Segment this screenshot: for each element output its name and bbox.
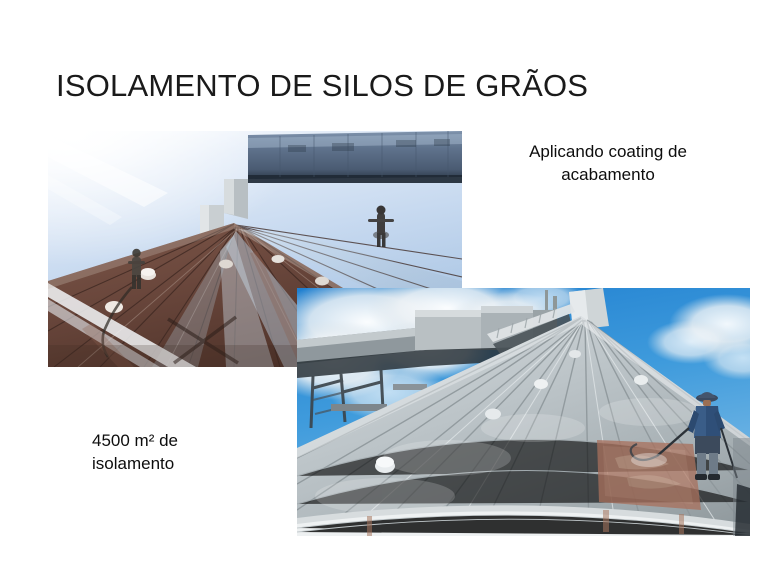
caption-coating-line-2: acabamento bbox=[497, 164, 719, 187]
caption-area-isolamento: 4500 m² de isolamento bbox=[92, 430, 302, 476]
rust-patch bbox=[597, 440, 701, 510]
silo-roof-after-coating-image bbox=[297, 288, 750, 536]
page-title: ISOLAMENTO DE SILOS DE GRÃOS bbox=[56, 68, 588, 104]
slide-canvas: ISOLAMENTO DE SILOS DE GRÃOS bbox=[0, 0, 768, 576]
caption-aplicando-coating: Aplicando coating de acabamento bbox=[497, 141, 719, 187]
photo-silo-roof-after-coating bbox=[297, 288, 750, 536]
caption-area-line-1: 4500 m² de bbox=[92, 430, 302, 453]
caption-coating-line-1: Aplicando coating de bbox=[497, 141, 719, 164]
caption-area-line-2: isolamento bbox=[92, 453, 302, 476]
